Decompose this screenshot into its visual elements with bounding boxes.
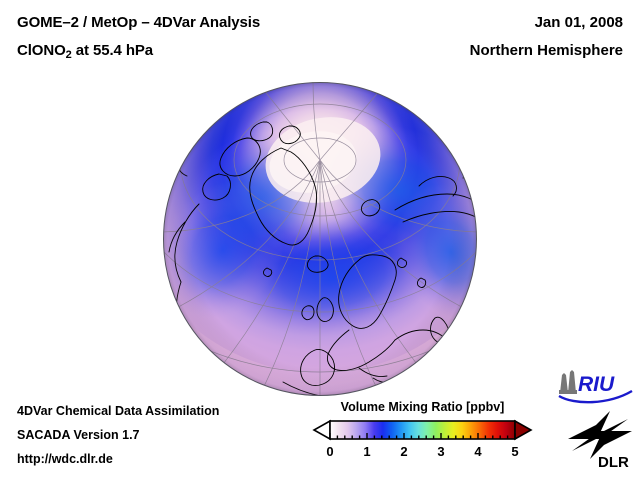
page-title: GOME–2 / MetOp – 4DVar Analysis: [17, 14, 260, 31]
colorbar-tick-label: 0: [318, 444, 342, 459]
colorbar-tick-label: 4: [466, 444, 490, 459]
footer-line-version: SACADA Version 1.7: [17, 428, 140, 442]
species-subscript: 2: [66, 49, 72, 61]
colorbar-tick-label: 3: [429, 444, 453, 459]
dlr-wordmark: DLR: [598, 454, 629, 471]
coast-taymyr: [463, 171, 477, 178]
pressure-level-text: at 55.4 hPa: [72, 42, 153, 59]
colorbar: Volume Mixing Ratio [ppbv] 012345: [310, 400, 535, 470]
riu-towers-icon: [559, 370, 577, 394]
dlr-star-icon: [568, 411, 632, 459]
hemisphere-label: Northern Hemisphere: [470, 42, 623, 59]
analysis-date: Jan 01, 2008: [535, 14, 623, 31]
coast-chukotka: [166, 112, 177, 138]
dlr-logo: DLR: [566, 409, 636, 471]
orthographic-projection: [163, 82, 477, 396]
limb-shading: [163, 82, 477, 396]
globe-field: [163, 82, 477, 396]
species-level-label: ClONO2 at 55.4 hPa: [17, 42, 153, 59]
colorbar-under-cap: [314, 421, 330, 439]
colorbar-tick-label: 2: [392, 444, 416, 459]
globe-map: [163, 82, 477, 396]
footer-line-url[interactable]: http://wdc.dlr.de: [17, 452, 113, 466]
colorbar-tick-labels: 012345: [310, 444, 535, 462]
coast-central-asia: [459, 328, 475, 352]
colorbar-graphic: [310, 419, 535, 443]
coast-arabia: [433, 366, 455, 390]
riu-wordmark: RIU: [578, 373, 615, 396]
riu-logo: RIU: [556, 369, 634, 405]
footer-line-method: 4DVar Chemical Data Assimilation: [17, 404, 219, 418]
species-name: ClONO: [17, 42, 66, 59]
colorbar-over-cap: [515, 421, 531, 439]
colorbar-gradient: [330, 421, 515, 439]
colorbar-tick-label: 5: [503, 444, 527, 459]
coast-caspian: [445, 350, 467, 372]
colorbar-title: Volume Mixing Ratio [ppbv]: [310, 400, 535, 414]
colorbar-tick-label: 1: [355, 444, 379, 459]
